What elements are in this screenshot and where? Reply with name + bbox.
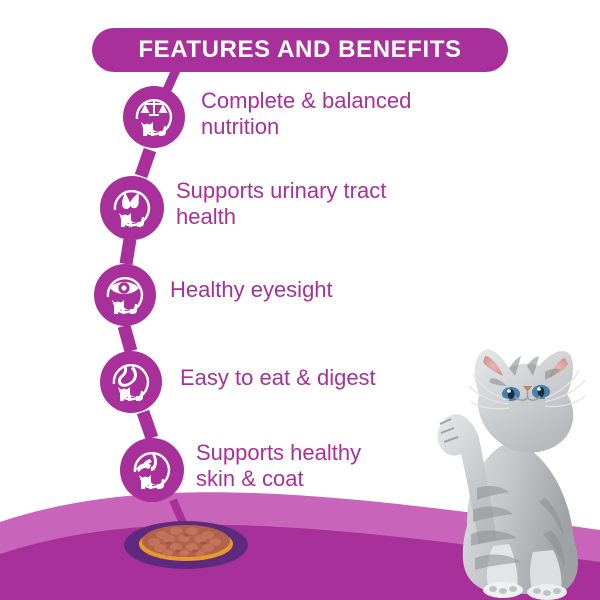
connector-segment-4 [143, 412, 152, 438]
benefit-icon-urinary-cat [100, 176, 164, 240]
connector-segment-1 [141, 150, 150, 176]
benefit-label-nutrition: Complete & balanced nutrition [201, 88, 501, 140]
eye-cat-icon [94, 264, 156, 326]
stomach-cat-icon [100, 351, 162, 413]
connector-segment-2 [126, 239, 130, 264]
benefit-icon-eyesight-cat [94, 264, 156, 326]
silver-tabby-kitten-photo [405, 338, 600, 600]
scales-cat-icon [123, 86, 185, 148]
fur-coat-cat-icon [120, 438, 184, 502]
features-benefits-header: FEATURES AND BENEFITS [92, 28, 508, 72]
promo-banner: FEATURES AND BENEFITS [0, 0, 600, 600]
benefit-label-eyesight: Healthy eyesight [170, 277, 470, 303]
cat-food-plate [122, 518, 250, 570]
water-drops-cat-icon [100, 176, 164, 240]
connector-segment-3 [124, 326, 131, 351]
benefit-label-urinary: Supports urinary tract health [176, 178, 476, 230]
benefit-icon-skin-coat-cat [120, 438, 184, 502]
kitten-eye-glint-left [507, 389, 511, 393]
benefit-icon-digestion-cat [100, 351, 162, 413]
kitten-eye-glint-right [537, 387, 541, 391]
benefit-icon-scales-cat [123, 86, 185, 148]
page-title: FEATURES AND BENEFITS [138, 36, 461, 64]
